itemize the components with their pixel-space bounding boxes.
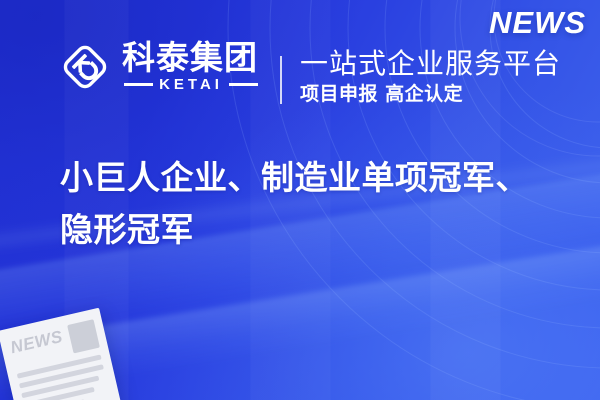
banner-header: 科泰集团 KETAI 一站式企业服务平台 项目申报 高企认定 — [0, 36, 600, 110]
brand-name-cn: 科泰集团 — [122, 40, 258, 76]
slogan-secondary: 项目申报 高企认定 — [300, 82, 561, 106]
ketai-diamond-k-logo-icon — [58, 40, 112, 94]
page-title: 小巨人企业、制造业单项冠军、隐形冠军 — [60, 152, 560, 256]
brand-logo[interactable]: 科泰集团 KETAI — [58, 36, 258, 94]
newspaper-masthead: NEWS — [9, 327, 65, 357]
brand-wordmark: 科泰集团 KETAI — [122, 38, 258, 93]
brand-name-en-row: KETAI — [122, 77, 258, 93]
news-badge: NEWS — [489, 6, 586, 40]
news-banner: 科泰集团 KETAI 一站式企业服务平台 项目申报 高企认定 NEWS 小巨人企… — [0, 0, 600, 400]
wordmark-dash-right — [229, 83, 258, 86]
wordmark-dash-left — [124, 83, 153, 86]
brand-slogan: 一站式企业服务平台 项目申报 高企认定 — [300, 48, 561, 106]
header-divider — [280, 56, 282, 104]
newspaper-photo-placeholder-icon — [67, 319, 100, 353]
brand-name-en: KETAI — [159, 77, 223, 93]
slogan-primary: 一站式企业服务平台 — [300, 48, 561, 80]
